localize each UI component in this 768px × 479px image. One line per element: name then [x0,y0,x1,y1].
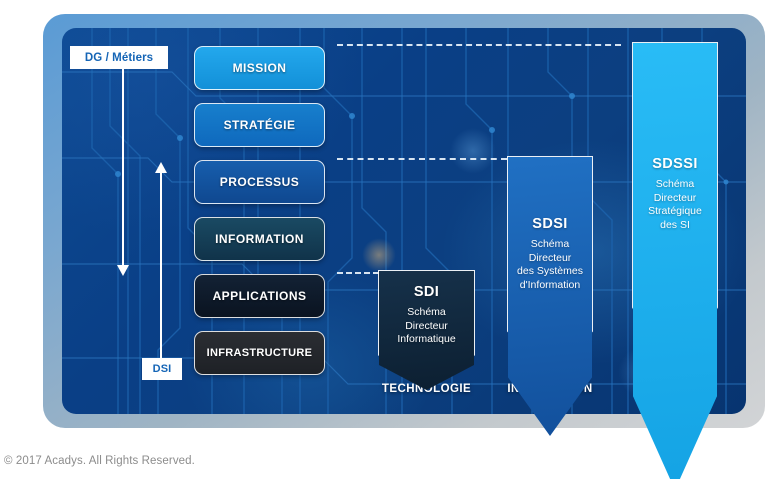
copyright-footer: © 2017 Acadys. All Rights Reserved. [4,455,195,467]
figure-root: DG / Métiers DSI MISSION STRATÉGIE PROCE… [0,0,768,479]
banner-sdsi-expansion-line: des Systèmes [517,265,583,279]
layer-box-strategie[interactable]: STRATÉGIE [194,103,325,147]
actor-chip-dg-metiers-label: DG / Métiers [85,52,153,64]
banner-sdssi-expansion-line: Directeur [648,192,702,206]
banner-sdi-expansion-line: Informatique [397,333,455,347]
banner-sdsi-expansion-line: Schéma [517,238,583,252]
banner-sdi-acronym: SDI [414,284,439,300]
banner-sdi-expansion: Schéma Directeur Informatique [397,306,455,347]
actor-chip-dsi-label: DSI [153,363,172,375]
dsi-arrow-shaft [160,173,162,361]
layer-label: INFRASTRUCTURE [207,347,313,359]
layer-box-mission[interactable]: MISSION [194,46,325,90]
banner-sdsi-expansion: Schéma Directeur des Systèmes d'Informat… [517,238,583,292]
banner-sdsi-inner: SDSI Schéma Directeur des Systèmes d'Inf… [508,157,592,377]
actor-chip-dsi[interactable]: DSI [142,358,182,380]
banner-sdssi-expansion-line: des SI [648,219,702,233]
banner-sdssi[interactable]: SDSSI Schéma Directeur Stratégique des S… [633,43,717,377]
layer-box-processus[interactable]: PROCESSUS [194,160,325,204]
connector-mission-to-sdssi [337,44,621,46]
dg-metiers-arrow-shaft [122,68,124,266]
layer-label: STRATÉGIE [224,118,296,132]
dg-metiers-arrow-head-icon [117,265,129,276]
layer-label: APPLICATIONS [213,289,307,303]
banner-sdsi-expansion-line: d'Information [517,279,583,293]
banner-sdi-expansion-line: Schéma [397,306,455,320]
layer-box-applications[interactable]: APPLICATIONS [194,274,325,318]
banner-sdssi-expansion-line: Schéma [648,178,702,192]
banner-sdssi-expansion: Schéma Directeur Stratégique des SI [648,178,702,232]
banner-sdssi-expansion-line: Stratégique [648,205,702,219]
connector-applications-to-sdi [337,272,379,274]
banner-sdi-inner: SDI Schéma Directeur Informatique [379,271,474,377]
connector-processus-to-sdsi [337,158,507,160]
dsi-arrow-head-icon [155,162,167,173]
banner-sdssi-acronym: SDSSI [652,156,698,172]
layer-label: INFORMATION [215,232,304,246]
banner-sdi[interactable]: SDI Schéma Directeur Informatique [379,271,474,377]
actor-chip-dg-metiers[interactable]: DG / Métiers [70,46,168,69]
layer-label: PROCESSUS [220,175,299,189]
banner-sdi-expansion-line: Directeur [397,320,455,334]
layer-box-infrastructure[interactable]: INFRASTRUCTURE [194,331,325,375]
banner-sdssi-inner: SDSSI Schéma Directeur Stratégique des S… [633,43,717,377]
banner-sdsi-acronym: SDSI [532,216,567,232]
banner-sdsi-expansion-line: Directeur [517,252,583,266]
layer-box-information[interactable]: INFORMATION [194,217,325,261]
layer-label: MISSION [233,61,287,75]
banner-sdsi[interactable]: SDSI Schéma Directeur des Systèmes d'Inf… [508,157,592,377]
